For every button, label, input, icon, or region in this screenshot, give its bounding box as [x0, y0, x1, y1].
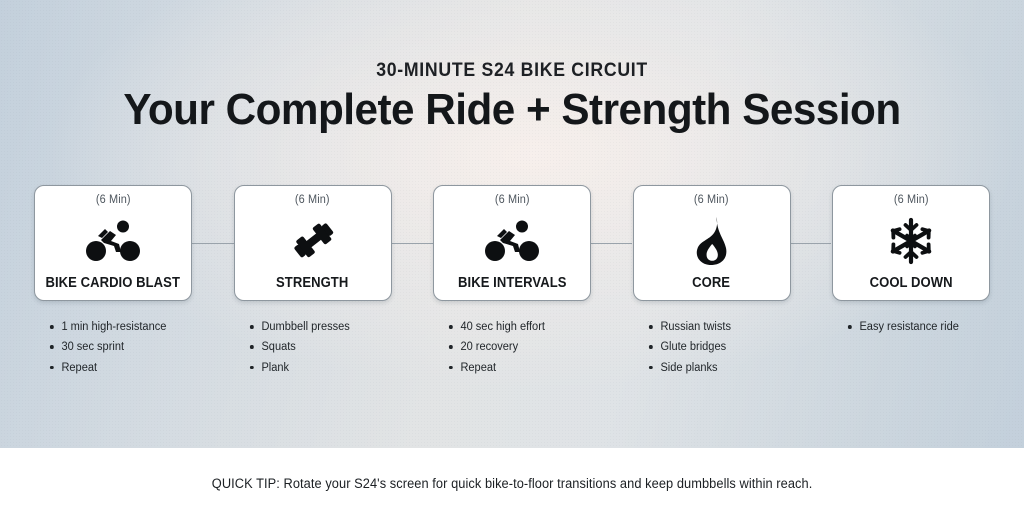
kicker-text: 30-MINUTE S24 BIKE CIRCUIT — [376, 60, 648, 82]
list-item: Squats — [248, 340, 386, 354]
list-item: 30 sec sprint — [48, 340, 186, 354]
step-duration: (6 Min) — [495, 194, 530, 206]
list-item: Glute bridges — [647, 340, 785, 354]
list-item: Plank — [248, 361, 386, 375]
step-title: BIKE CARDIO BLAST — [46, 275, 181, 300]
list-item: 20 recovery — [447, 340, 585, 354]
step-column-5: (6 Min) — [832, 185, 990, 340]
header-block: 30-MINUTE S24 BIKE CIRCUIT Your Complete… — [0, 60, 1024, 134]
step-card-core[interactable]: (6 Min) CORE — [633, 185, 791, 301]
step-bullets-5: Easy resistance ride — [832, 320, 990, 340]
step-column-3: (6 Min) BIKE INTERVALS 40 sec high effor… — [433, 185, 591, 381]
step-column-4: (6 Min) CORE Russian twists Glute bridge… — [633, 185, 791, 381]
step-card-cool-down[interactable]: (6 Min) — [832, 185, 990, 301]
footer-bar: QUICK TIP: Rotate your S24's screen for … — [0, 448, 1024, 518]
list-item: 1 min high-resistance — [48, 320, 186, 334]
step-column-1: (6 Min) BIKE CARDIO BLAST 1 min high-res… — [34, 185, 192, 381]
step-card-bike-cardio-blast[interactable]: (6 Min) BIKE CARDIO BLAST — [34, 185, 192, 301]
step-title: STRENGTH — [276, 275, 348, 300]
step-title: CORE — [693, 275, 731, 300]
cyclist-icon — [434, 206, 590, 275]
step-bullets-1: 1 min high-resistance 30 sec sprint Repe… — [34, 320, 192, 381]
step-title: BIKE INTERVALS — [458, 275, 566, 300]
list-item: Repeat — [48, 361, 186, 375]
step-card-strength[interactable]: (6 Min) STRENGTH — [234, 185, 392, 301]
step-duration: (6 Min) — [96, 194, 131, 206]
step-title: COOL DOWN — [870, 275, 953, 300]
steps-row: (6 Min) BIKE CARDIO BLAST 1 min high-res… — [34, 185, 990, 375]
flame-icon — [634, 206, 790, 275]
quick-tip-text: QUICK TIP: Rotate your S24's screen for … — [212, 476, 813, 491]
step-duration: (6 Min) — [894, 194, 929, 206]
step-card-bike-intervals[interactable]: (6 Min) BIKE INTERVALS — [433, 185, 591, 301]
list-item: Repeat — [447, 361, 585, 375]
list-item: Easy resistance ride — [846, 320, 984, 334]
list-item: Dumbbell presses — [248, 320, 386, 334]
step-duration: (6 Min) — [694, 194, 729, 206]
cyclist-icon — [35, 206, 191, 275]
step-bullets-3: 40 sec high effort 20 recovery Repeat — [433, 320, 591, 381]
page-title: Your Complete Ride + Strength Session — [20, 86, 1003, 134]
dumbbell-icon — [235, 206, 391, 275]
list-item: 40 sec high effort — [447, 320, 585, 334]
step-column-2: (6 Min) STRENGTH Dumbbell presses Squats… — [234, 185, 392, 381]
list-item: Side planks — [647, 361, 785, 375]
list-item: Russian twists — [647, 320, 785, 334]
step-bullets-4: Russian twists Glute bridges Side planks — [633, 320, 791, 381]
step-duration: (6 Min) — [295, 194, 330, 206]
step-bullets-2: Dumbbell presses Squats Plank — [234, 320, 392, 381]
snowflake-icon — [833, 206, 989, 275]
